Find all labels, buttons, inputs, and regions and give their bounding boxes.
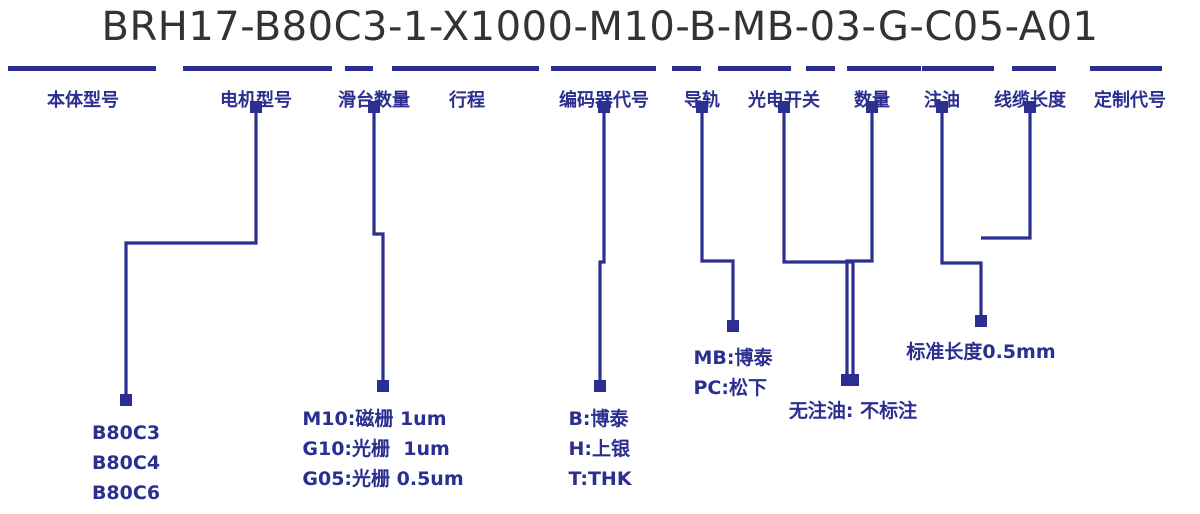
connector-quantity-endpoint — [841, 374, 853, 386]
body-model-options-line-0: B80C3 — [92, 418, 160, 448]
oiling-note: 无注油: 不标注 — [789, 396, 917, 426]
segment-underline-2 — [345, 66, 373, 71]
segment-underline-7 — [806, 66, 835, 71]
connector-photo-switch-endpoint — [727, 320, 739, 332]
encoder-options-line-1: G10:光栅 1um — [302, 434, 463, 464]
connector-rail — [600, 113, 604, 386]
segment-underline-0 — [8, 66, 156, 71]
field-label-1: 电机型号 — [220, 86, 292, 112]
segment-underline-5 — [672, 66, 701, 71]
rail-options-line-2: T:THK — [568, 464, 631, 494]
connector-rail-endpoint — [594, 380, 606, 392]
rail-options-line-0: B:博泰 — [568, 404, 631, 434]
connector-cable-length-endpoint — [975, 315, 987, 327]
connector-quantity — [847, 113, 872, 380]
rail-options: B:博泰H:上银T:THK — [568, 404, 631, 494]
segment-underline-11 — [1090, 66, 1162, 71]
segment-underline-1 — [183, 66, 332, 71]
body-model-options-line-2: B80C6 — [92, 478, 160, 508]
encoder-options: M10:磁栅 1umG10:光栅 1umG05:光栅 0.5um — [302, 404, 463, 494]
field-label-0: 本体型号 — [47, 86, 119, 112]
connector-body-model — [126, 113, 256, 400]
connector-oiling — [784, 113, 853, 380]
field-label-10: 定制代号 — [1094, 86, 1166, 112]
field-label-2: 滑台数量 — [338, 86, 410, 112]
photo-switch-options: MB:博泰PC:松下 — [694, 343, 773, 403]
field-label-6: 光电开关 — [748, 86, 820, 112]
segment-underline-9 — [922, 66, 994, 71]
model-code-breakdown-diagram: BRH17-B80C3-1-X1000-M10-B-MB-03-G-C05-A0… — [0, 0, 1200, 514]
field-label-4: 编码器代号 — [559, 86, 649, 112]
field-label-8: 注油 — [924, 86, 960, 112]
photo-switch-options-line-0: MB:博泰 — [694, 343, 773, 373]
model-number-title: BRH17-B80C3-1-X1000-M10-B-MB-03-G-C05-A0… — [0, 4, 1200, 50]
connector-custom-code — [981, 113, 1030, 238]
segment-underline-8 — [847, 66, 921, 71]
connector-encoder — [374, 113, 383, 386]
field-label-3: 行程 — [449, 86, 485, 112]
connector-encoder-endpoint — [377, 380, 389, 392]
connector-oiling-endpoint — [847, 374, 859, 386]
rail-options-line-1: H:上银 — [568, 434, 631, 464]
field-label-7: 数量 — [854, 86, 890, 112]
encoder-options-line-0: M10:磁栅 1um — [302, 404, 463, 434]
body-model-options-line-1: B80C4 — [92, 448, 160, 478]
photo-switch-options-line-1: PC:松下 — [694, 373, 773, 403]
cable-length-note: 标准长度0.5mm — [906, 337, 1055, 367]
connector-cable-length — [942, 113, 981, 321]
segment-underline-10 — [1012, 66, 1056, 71]
cable-length-note-line-0: 标准长度0.5mm — [906, 337, 1055, 367]
segment-underline-4 — [551, 66, 656, 71]
field-label-9: 线缆长度 — [994, 86, 1066, 112]
field-label-5: 导轨 — [684, 86, 720, 112]
segment-underline-6 — [718, 66, 791, 71]
segment-underline-3 — [392, 66, 539, 71]
connector-photo-switch — [702, 113, 733, 326]
connector-body-model-endpoint — [120, 394, 132, 406]
encoder-options-line-2: G05:光栅 0.5um — [302, 464, 463, 494]
oiling-note-line-0: 无注油: 不标注 — [789, 396, 917, 426]
body-model-options: B80C3B80C4B80C6 — [92, 418, 160, 508]
